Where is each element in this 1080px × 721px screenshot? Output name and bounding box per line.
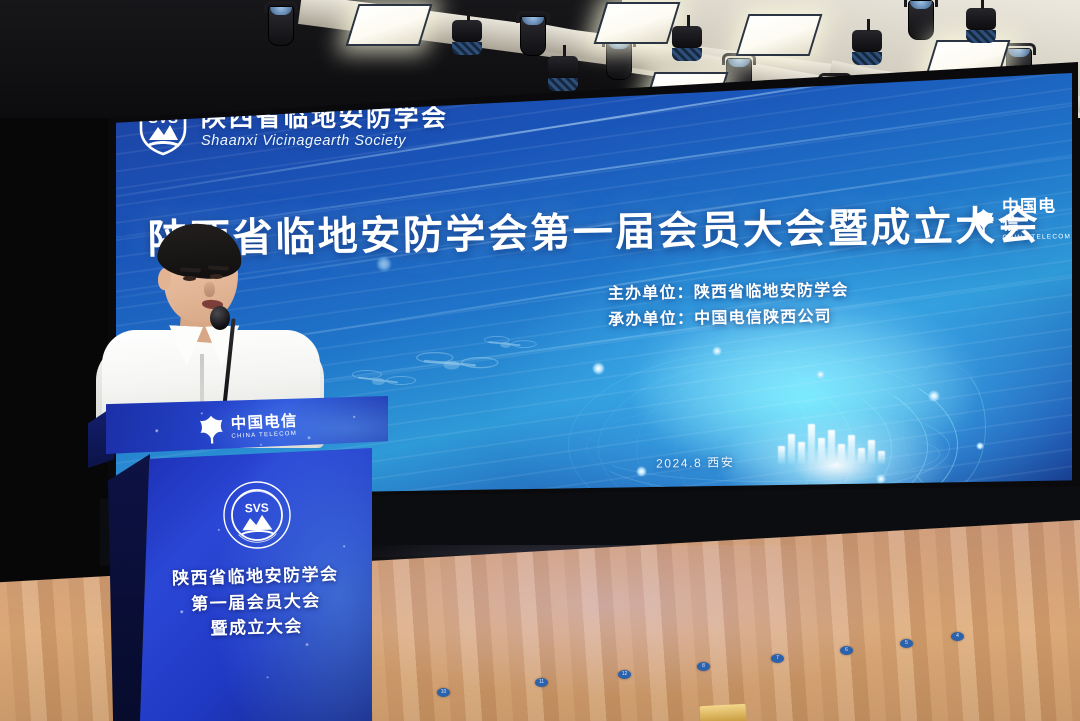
speaker-eye-right (210, 274, 223, 279)
china-telecom-name-en: CHINA TELECOM (231, 431, 298, 440)
floor-marker: 12 (618, 670, 631, 679)
par-can-light-icon (672, 26, 702, 61)
floor-plate (700, 704, 747, 721)
svg-text:SVS: SVS (245, 501, 269, 516)
floor-marker: 11 (535, 678, 548, 687)
floor-marker: 8 (697, 662, 710, 671)
podium-front-panel: SVS 陕西省临地安防学会 第一届会员大会 暨成立大会 (140, 448, 372, 721)
society-name-en: Shaanxi Vicinagearth Society (201, 133, 449, 149)
moving-head-light-icon (908, 0, 934, 40)
host-line: 承办单位：中国电信陕西公司 (608, 304, 849, 334)
podium: 中国电信 CHINA TELECOM SVS 陕西省临地安防学会 第一届会员大会… (88, 396, 398, 721)
floor-marker: 6 (840, 646, 853, 655)
city-skyline-graphic (756, 418, 906, 464)
floor-marker: 7 (771, 654, 784, 663)
china-telecom-mark-icon (972, 207, 996, 233)
china-telecom-name-en: CHINA TELECOM (1002, 233, 1072, 241)
china-telecom-logo-screen: 中国电信 CHINA TELECOM (972, 197, 1072, 242)
china-telecom-logo-podium: 中国电信 CHINA TELECOM (197, 411, 298, 444)
moving-head-light-icon (268, 6, 294, 46)
moving-head-light-icon (520, 16, 546, 56)
podium-top-panel: 中国电信 CHINA TELECOM (106, 396, 388, 454)
china-telecom-text: 中国电信 CHINA TELECOM (230, 413, 298, 440)
par-can-light-icon (966, 8, 996, 43)
scene-root: SVS 陕西省临地安防学会 Shaanxi Vicinagearth Socie… (0, 0, 1080, 721)
floor-marker: 4 (951, 632, 964, 641)
date-location-text: 2024.8 西安 (656, 453, 735, 471)
led-panel-light-icon (742, 14, 816, 56)
par-can-light-icon (452, 20, 482, 55)
par-can-light-icon (548, 56, 578, 91)
par-can-light-icon (852, 30, 882, 65)
china-telecom-mark-icon (197, 414, 225, 444)
podium-title-block: 陕西省临地安防学会 第一届会员大会 暨成立大会 (140, 561, 372, 644)
organizer-block: 主办单位：陕西省临地安防学会 承办单位：中国电信陕西公司 (608, 278, 850, 334)
speaker-nose (204, 282, 215, 297)
svs-circular-emblem-icon: SVS (221, 479, 293, 551)
led-panel-light-icon (600, 2, 674, 44)
floor-marker: 5 (900, 639, 913, 648)
china-telecom-name-cn: 中国电信 (230, 413, 297, 432)
china-telecom-name-cn: 中国电信 (1002, 197, 1072, 232)
moving-head-light-icon (606, 40, 632, 80)
floor-marker: 10 (437, 688, 450, 697)
china-telecom-text: 中国电信 CHINA TELECOM (1002, 197, 1072, 241)
microphone-icon (210, 306, 230, 330)
organizer-line: 主办单位：陕西省临地安防学会 (608, 278, 849, 308)
speaker-eye-left (183, 276, 196, 281)
led-panel-light-icon (352, 4, 426, 46)
